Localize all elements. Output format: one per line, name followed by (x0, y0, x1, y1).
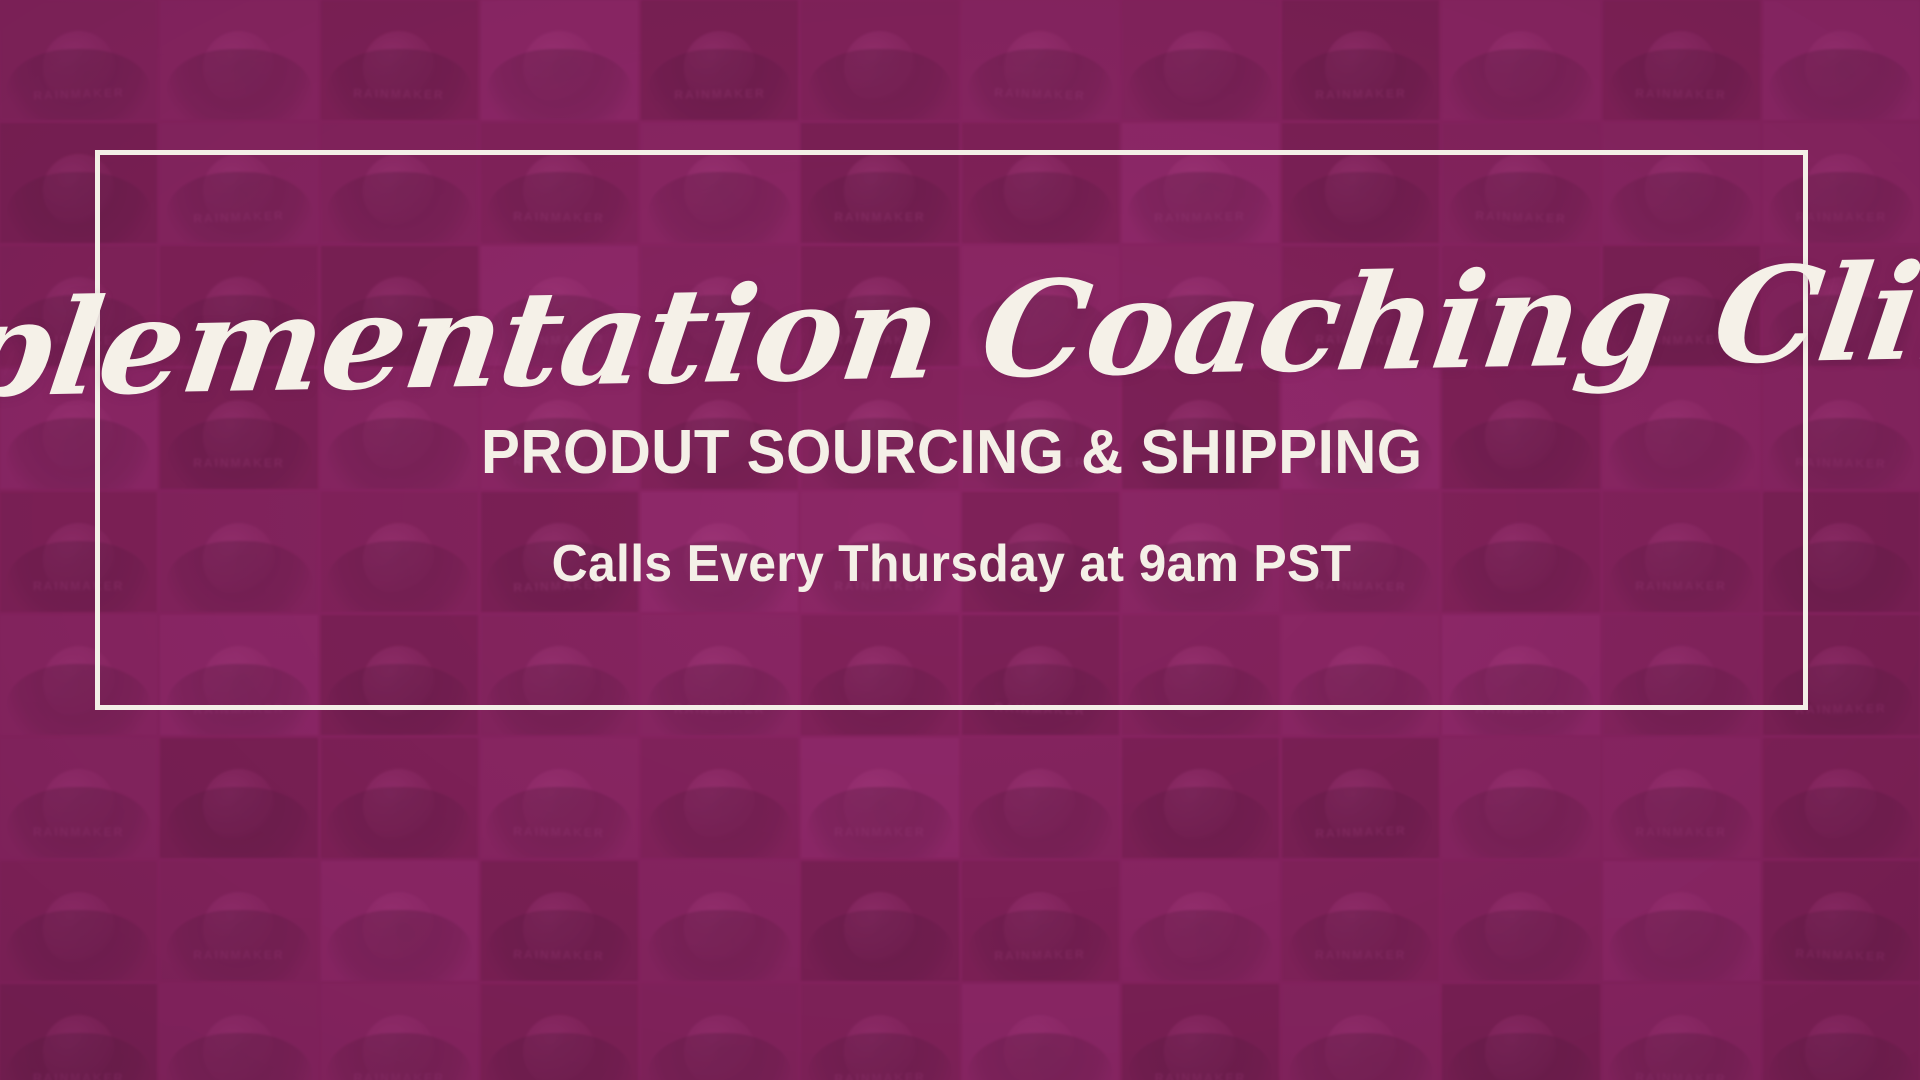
banner-canvas: RAINMAKERRAINMAKERRAINMAKERRAINMAKERRAIN… (0, 0, 1920, 1080)
banner-content: Implementation Coaching Clinic PRODUT SO… (95, 150, 1808, 710)
page-title: Implementation Coaching Clinic (0, 246, 1920, 418)
banner-subtitle: PRODUT SOURCING & SHIPPING (481, 420, 1423, 485)
banner-tagline: Calls Every Thursday at 9am PST (552, 537, 1352, 592)
